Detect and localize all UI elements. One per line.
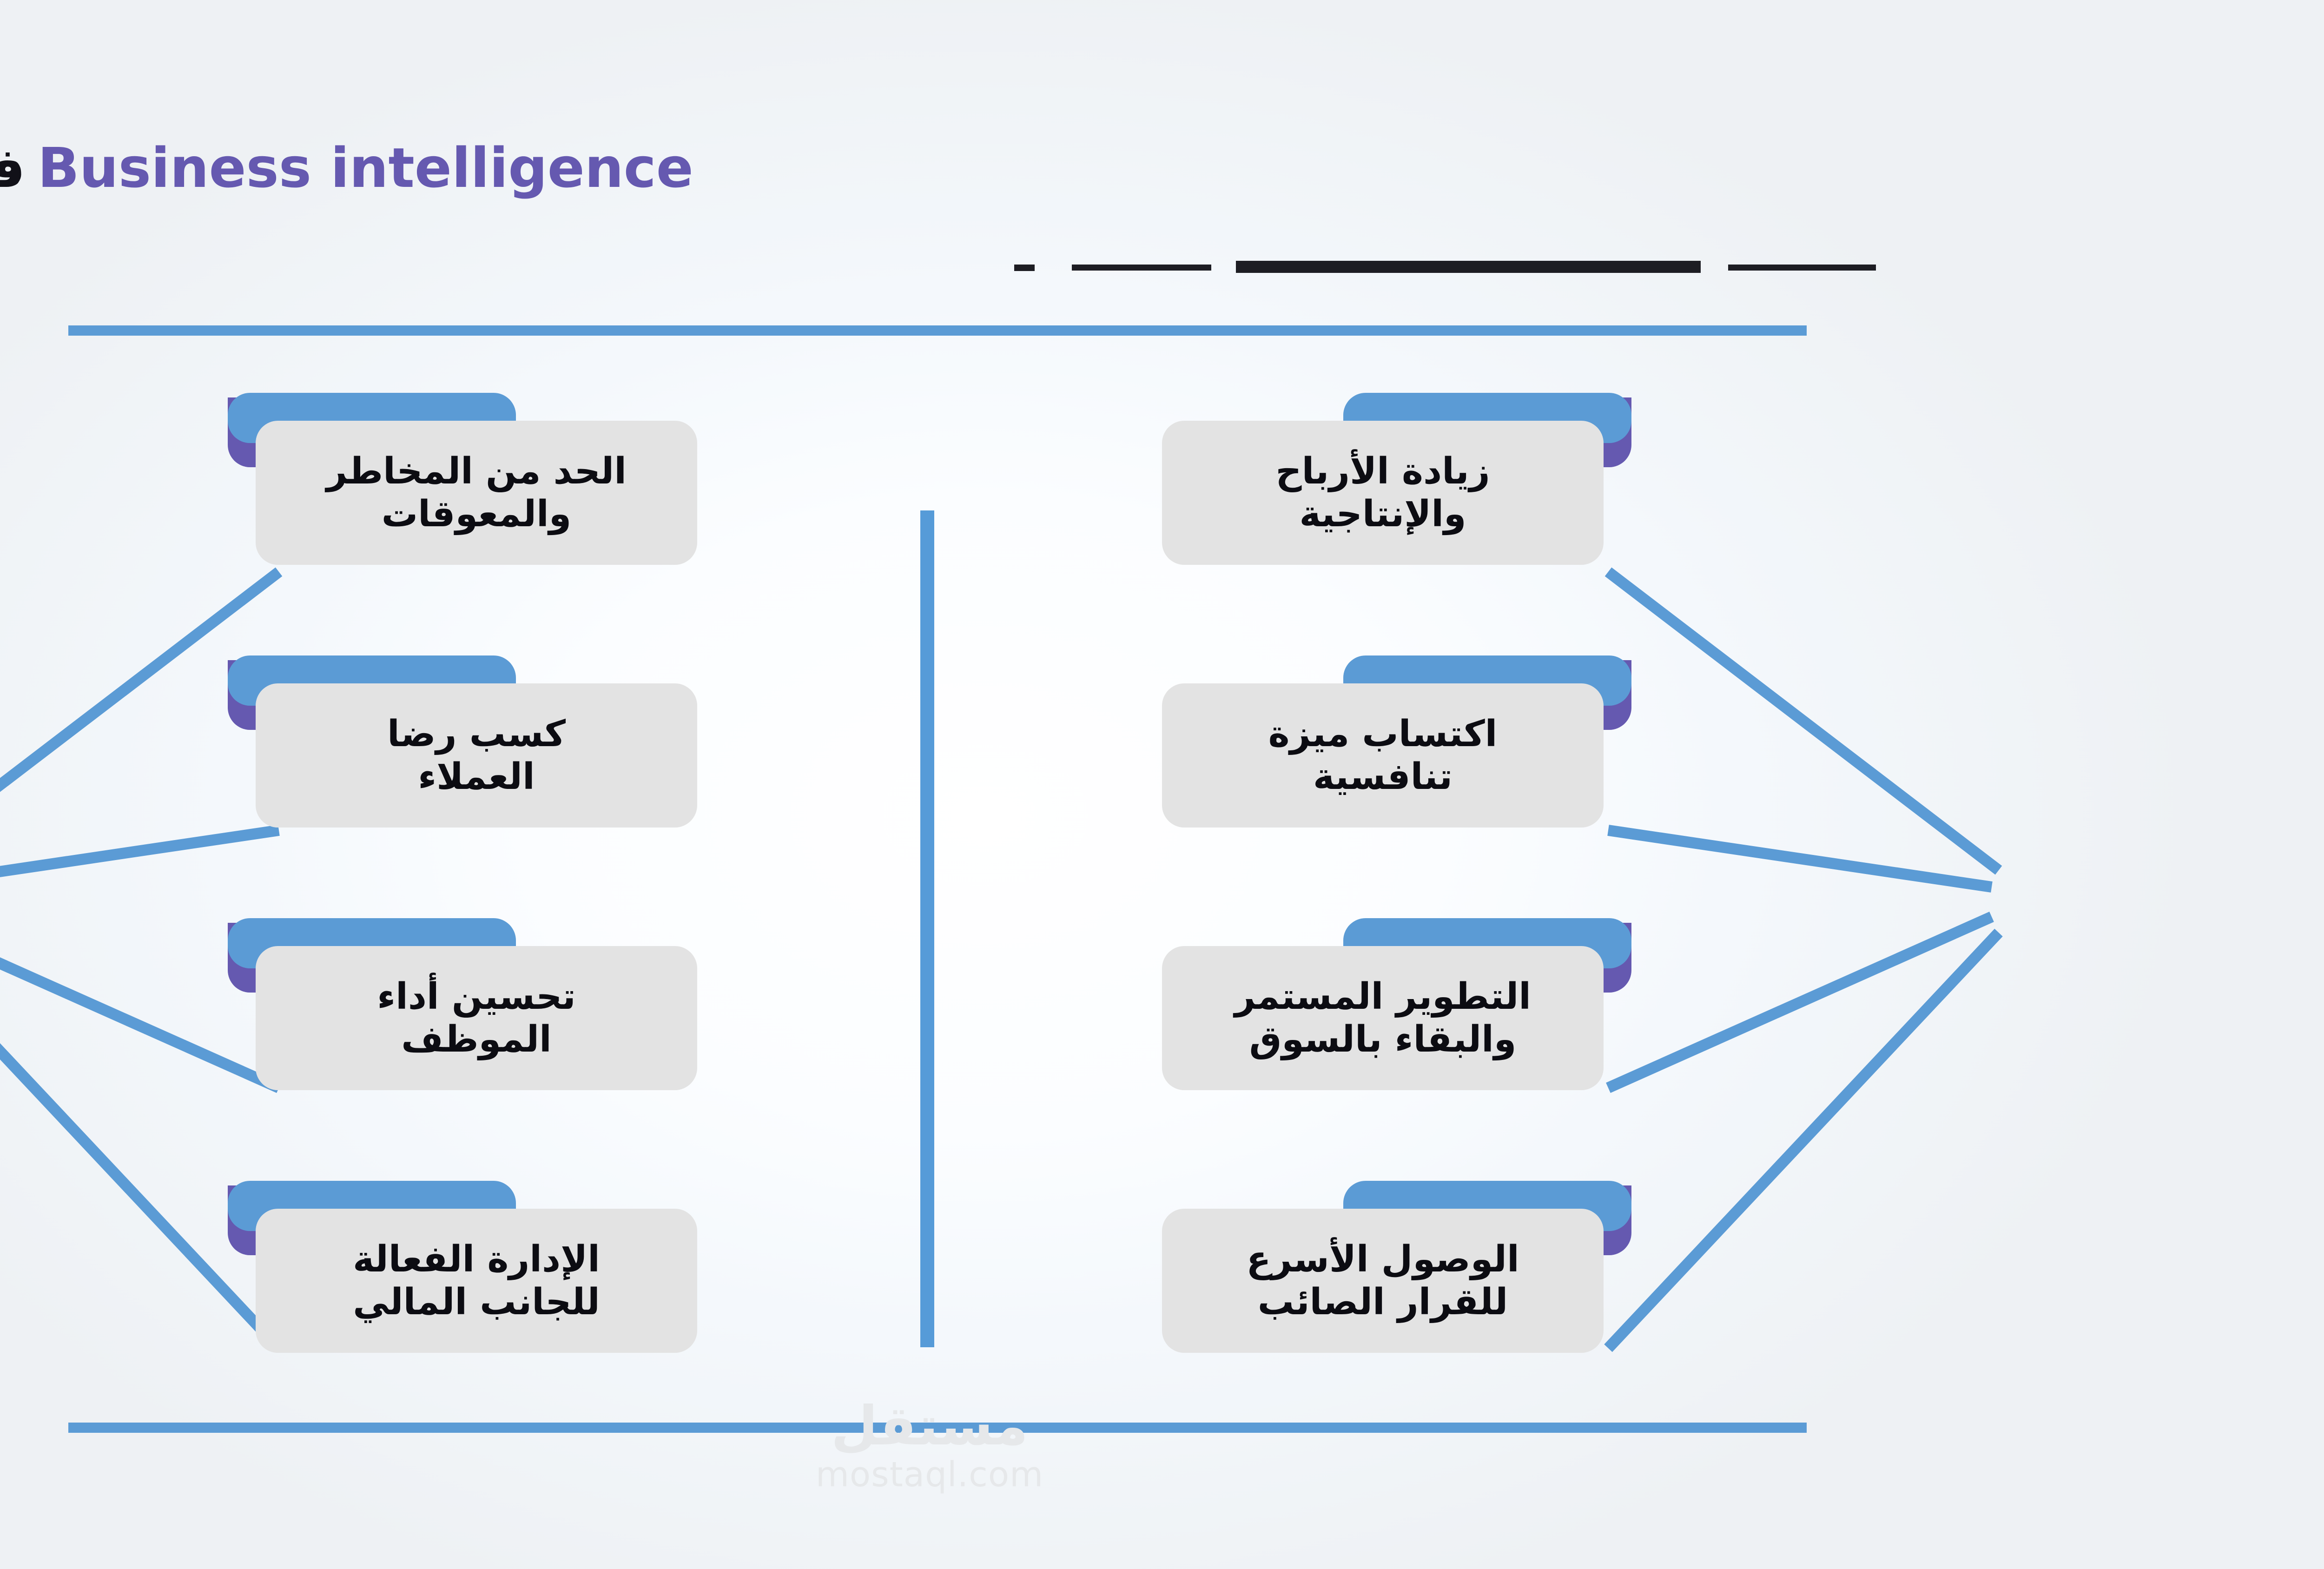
card-body: كسب رضا العملاء — [256, 683, 697, 828]
connector-left-4 — [0, 933, 279, 1348]
top-divider-rule — [68, 325, 1807, 336]
benefit-card[interactable]: كسب رضا العملاء — [256, 655, 697, 828]
title-dash-1 — [1014, 265, 1035, 271]
connector-right-4 — [1608, 933, 1999, 1348]
watermark-url: mostaql.com — [725, 1453, 1134, 1496]
center-vertical-divider — [920, 510, 934, 1347]
card-body: الوصول الأسرع للقرار الصائب — [1162, 1209, 1604, 1353]
connector-right-2 — [1608, 830, 1992, 887]
connector-right-1 — [1608, 572, 1999, 870]
benefit-card[interactable]: زيادة الأرباح والإنتاجية — [1162, 393, 1604, 565]
page-title: Business intelligenceفوائد ذكاء الأعمال — [0, 139, 2059, 197]
benefit-card[interactable]: الإدارة الفعالة للجانب المالي — [256, 1181, 697, 1353]
title-english: Business intelligence — [38, 136, 693, 200]
card-label: اكتساب ميزة تنافسية — [1268, 713, 1498, 798]
card-body: زيادة الأرباح والإنتاجية — [1162, 421, 1604, 565]
card-label: الحد من المخاطر والمعوقات — [326, 450, 627, 536]
title-arabic: فوائد ذكاء الأعمال — [0, 136, 26, 200]
title-dash-2 — [1072, 265, 1211, 271]
title-line: Business intelligenceفوائد ذكاء الأعمال — [0, 139, 693, 197]
watermark: مستقل mostaql.com — [725, 1399, 1134, 1496]
card-label: تحسين أداء الموظف — [377, 975, 575, 1061]
title-underline-dashes — [1004, 258, 1910, 277]
card-label: زيادة الأرباح والإنتاجية — [1275, 450, 1490, 536]
benefit-card[interactable]: تحسين أداء الموظف — [256, 918, 697, 1090]
card-body: تحسين أداء الموظف — [256, 946, 697, 1090]
benefit-card[interactable]: التطوير المستمر والبقاء بالسوق — [1162, 918, 1604, 1090]
card-body: اكتساب ميزة تنافسية — [1162, 683, 1604, 828]
card-body: التطوير المستمر والبقاء بالسوق — [1162, 946, 1604, 1090]
card-label: الوصول الأسرع للقرار الصائب — [1246, 1238, 1519, 1324]
benefit-card[interactable]: الوصول الأسرع للقرار الصائب — [1162, 1181, 1604, 1353]
card-label: التطوير المستمر والبقاء بالسوق — [1235, 975, 1531, 1061]
title-dash-3 — [1236, 261, 1701, 273]
connector-left-2 — [0, 830, 279, 887]
watermark-arabic: مستقل — [725, 1399, 1134, 1453]
card-label: كسب رضا العملاء — [387, 713, 566, 798]
benefit-card[interactable]: الحد من المخاطر والمعوقات — [256, 393, 697, 565]
card-body: الإدارة الفعالة للجانب المالي — [256, 1209, 697, 1353]
infographic-slide: Business intelligenceفوائد ذكاء الأعمال … — [0, 0, 2324, 1569]
card-label: الإدارة الفعالة للجانب المالي — [353, 1238, 600, 1324]
connector-right-3 — [1608, 917, 1992, 1088]
benefit-card[interactable]: اكتساب ميزة تنافسية — [1162, 655, 1604, 828]
card-body: الحد من المخاطر والمعوقات — [256, 421, 697, 565]
title-dash-4 — [1728, 265, 1876, 271]
